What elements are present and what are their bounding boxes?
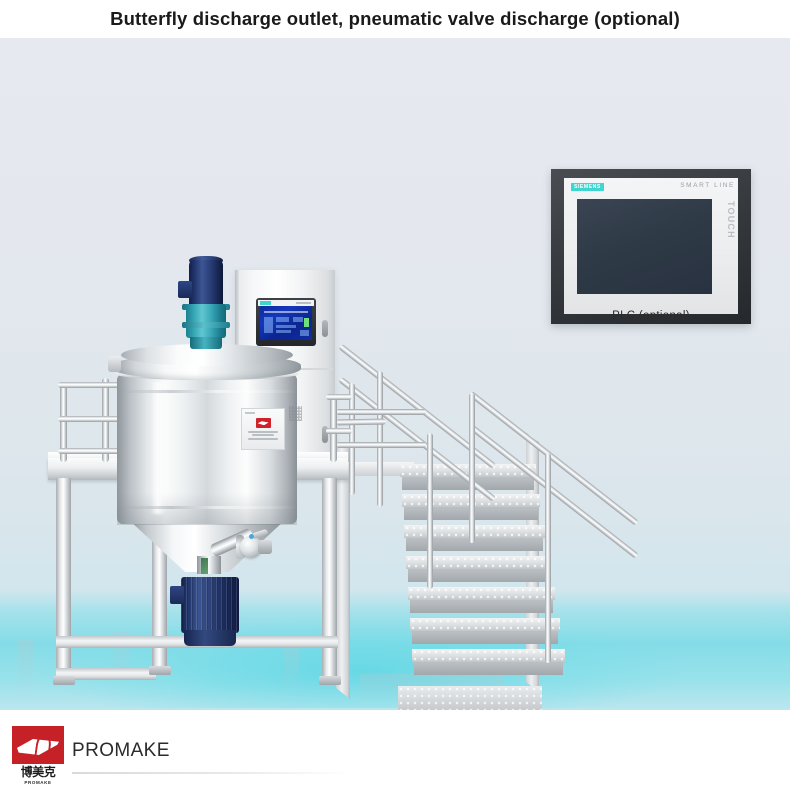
logo-chinese-text: 博美克	[12, 764, 64, 780]
guardrail-rail-right[interactable]	[326, 428, 352, 434]
hmi-screen[interactable]	[260, 306, 312, 340]
agitator-motor	[189, 260, 223, 308]
footer-branding: 博美克 PROMAKE PROMAKE	[0, 710, 790, 802]
gearbox-base	[190, 337, 222, 349]
frame-foot	[149, 666, 171, 675]
leg-reflection	[284, 640, 299, 696]
cabinet-door-handle[interactable]	[322, 320, 328, 337]
vessel-weld-band	[117, 390, 297, 393]
siemens-logo-text: SIEMENS	[574, 184, 601, 190]
gearbox-flange	[182, 322, 230, 328]
discharge-outlet	[258, 540, 272, 554]
vessel-highlight	[150, 382, 166, 514]
brand-name: PROMAKE	[72, 740, 170, 762]
stair-rail-post	[469, 393, 475, 543]
nameplate-header-line	[245, 412, 255, 414]
stair-tread	[412, 649, 565, 662]
stair-rail-post	[427, 433, 433, 589]
leg-reflection	[18, 640, 33, 696]
image-title-bar: Butterfly discharge outlet, pneumatic va…	[0, 0, 790, 38]
nameplate-logo-icon	[256, 418, 271, 428]
vessel-qr-code	[289, 406, 302, 421]
vessel-bottom-shading	[117, 493, 297, 525]
logo-hook-icon	[34, 732, 52, 757]
logo-subtext: PROMAKE	[12, 780, 64, 785]
homogenizer-cooling-fins	[181, 577, 239, 633]
frame-leg	[322, 478, 337, 678]
company-logo: 博美克 PROMAKE	[12, 726, 64, 782]
landing-handrail-upper[interactable]	[336, 419, 386, 426]
hmi-siemens-badge	[260, 301, 271, 305]
valve-indicator-icon	[249, 534, 254, 539]
agitator-junction-box	[178, 281, 192, 298]
page-title: Butterfly discharge outlet, pneumatic va…	[110, 8, 680, 30]
frame-leg	[56, 478, 71, 678]
footer-divider	[72, 772, 352, 774]
plc-touch-panel[interactable]: SIEMENS SMART LINE TOUCH	[551, 169, 751, 324]
hmi-model-text	[296, 302, 311, 305]
stair-tread	[410, 618, 560, 631]
stair-rail-post	[545, 453, 551, 663]
vessel-nameplate	[241, 408, 285, 450]
nameplate-text-line	[252, 434, 274, 436]
frame-foot	[53, 676, 75, 685]
homogenizer-mounting-flange	[183, 569, 235, 577]
landing-handrail-top[interactable]	[336, 409, 426, 415]
plc-display-screen[interactable]	[577, 199, 712, 294]
logo-mark-icon	[12, 726, 64, 764]
plc-touch-label: TOUCH	[726, 201, 736, 239]
agitator-gearbox	[186, 304, 226, 338]
stair-bottom-platform	[398, 686, 542, 710]
vessel-lid-clamp-lug	[108, 356, 121, 372]
vessel-weld-band	[117, 506, 297, 509]
plc-model-label: SMART LINE	[680, 182, 735, 189]
homogenizer-junction-box	[170, 586, 184, 604]
nameplate-text-line	[248, 431, 278, 433]
homogenizer-motor-cap	[184, 630, 236, 646]
frame-foot	[319, 676, 341, 685]
siemens-logo: SIEMENS	[571, 183, 604, 191]
guardrail-rail-right[interactable]	[326, 394, 352, 400]
product-image: Butterfly discharge outlet, pneumatic va…	[0, 0, 790, 802]
plc-caption: PLC (optional)	[551, 310, 751, 322]
product-scene: SIEMENS SMART LINE TOUCH	[0, 38, 790, 710]
landing-handrail-mid[interactable]	[336, 442, 426, 448]
stair-rail-post	[377, 371, 383, 507]
nameplate-text-line	[248, 438, 278, 440]
